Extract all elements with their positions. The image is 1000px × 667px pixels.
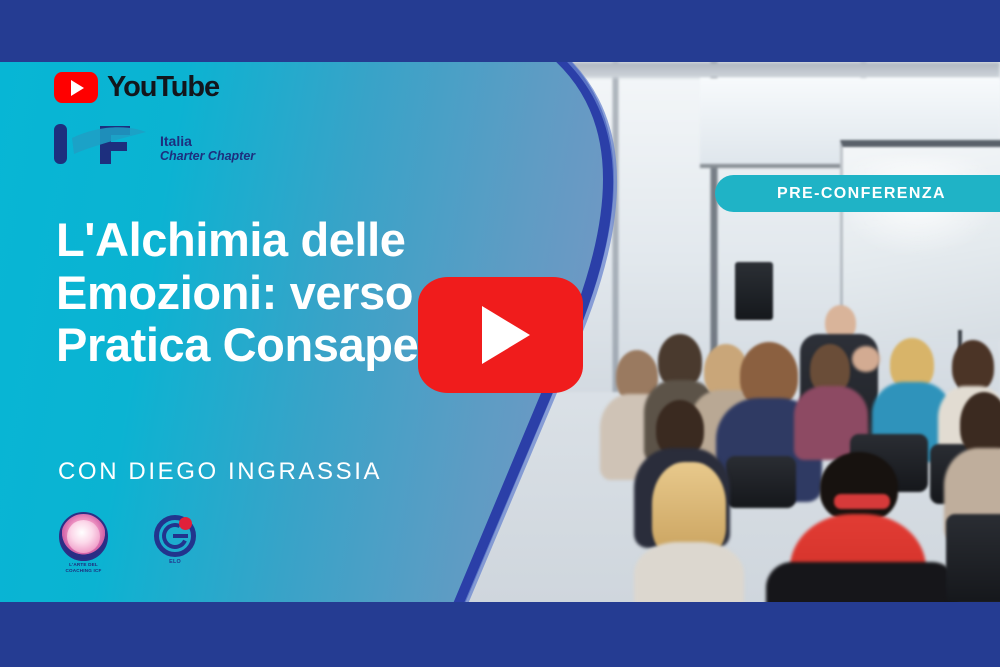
audience-jacket <box>766 562 958 602</box>
ceiling-beam <box>560 62 1000 78</box>
pre-conference-badge: PRE-CONFERENZA <box>715 175 1000 212</box>
audience-torso <box>634 542 744 602</box>
video-thumbnail[interactable]: PRE-CONFERENZA YouTube Italia Charter Ch… <box>0 0 1000 667</box>
bottom-frame-bar <box>0 602 1000 667</box>
audience-head <box>960 392 1000 456</box>
icf-mark-icon <box>54 120 149 166</box>
youtube-logo: YouTube <box>54 72 219 103</box>
speaker-credit: CON DIEGO INGRASSIA <box>58 458 382 486</box>
elo-logo-icon: ELO <box>149 515 201 571</box>
icf-chapter-text: Italia Charter Chapter <box>160 134 255 166</box>
play-triangle-icon <box>482 306 530 364</box>
audience-head-dark <box>820 452 898 522</box>
play-button[interactable] <box>418 277 583 393</box>
loudspeaker-box <box>735 262 773 320</box>
icf-chapter: Charter Chapter <box>160 149 255 163</box>
chair <box>946 514 1000 602</box>
icf-logo: Italia Charter Chapter <box>54 120 255 166</box>
partner-logos: L'ARTE DEL COACHING ICF ELO <box>56 512 201 574</box>
icf-country: Italia <box>160 134 255 149</box>
presenter-arm <box>852 346 880 372</box>
youtube-wordmark: YouTube <box>107 73 219 102</box>
audience-sunglasses <box>834 494 890 509</box>
arte-coaching-icf-seal-icon: L'ARTE DEL COACHING ICF <box>56 512 111 574</box>
top-frame-bar <box>0 0 1000 62</box>
chair <box>726 456 796 508</box>
audience-head <box>952 340 994 392</box>
youtube-play-icon <box>54 72 98 103</box>
